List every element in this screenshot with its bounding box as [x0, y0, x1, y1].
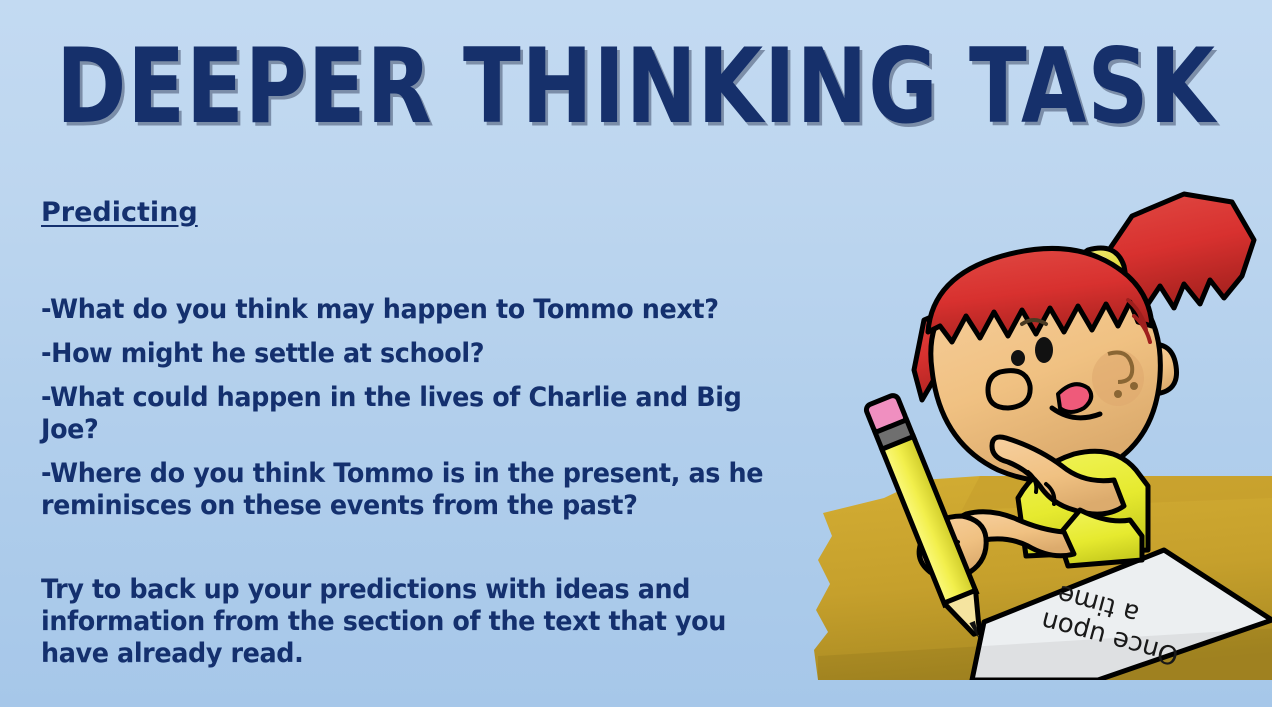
list-item: -What do you think may happen to Tommo n… — [41, 294, 799, 326]
cheek — [1092, 350, 1144, 406]
section-heading: Predicting — [41, 196, 198, 230]
slide-canvas: DEEPER THINKING TASK Predicting -What do… — [0, 0, 1272, 707]
content-column: Predicting -What do you think may happen… — [41, 196, 831, 697]
page-title: DEEPER THINKING TASK — [51, 36, 1221, 139]
list-item: -How might he settle at school? — [41, 338, 799, 370]
list-item: -What could happen in the lives of Charl… — [41, 382, 799, 446]
question-list: -What do you think may happen to Tommo n… — [41, 294, 831, 522]
closing-instruction: Try to back up your predictions with ide… — [41, 574, 799, 670]
list-item: -Where do you think Tommo is in the pres… — [41, 458, 799, 522]
girl-writing-clipart: Once upon a time — [812, 180, 1272, 680]
